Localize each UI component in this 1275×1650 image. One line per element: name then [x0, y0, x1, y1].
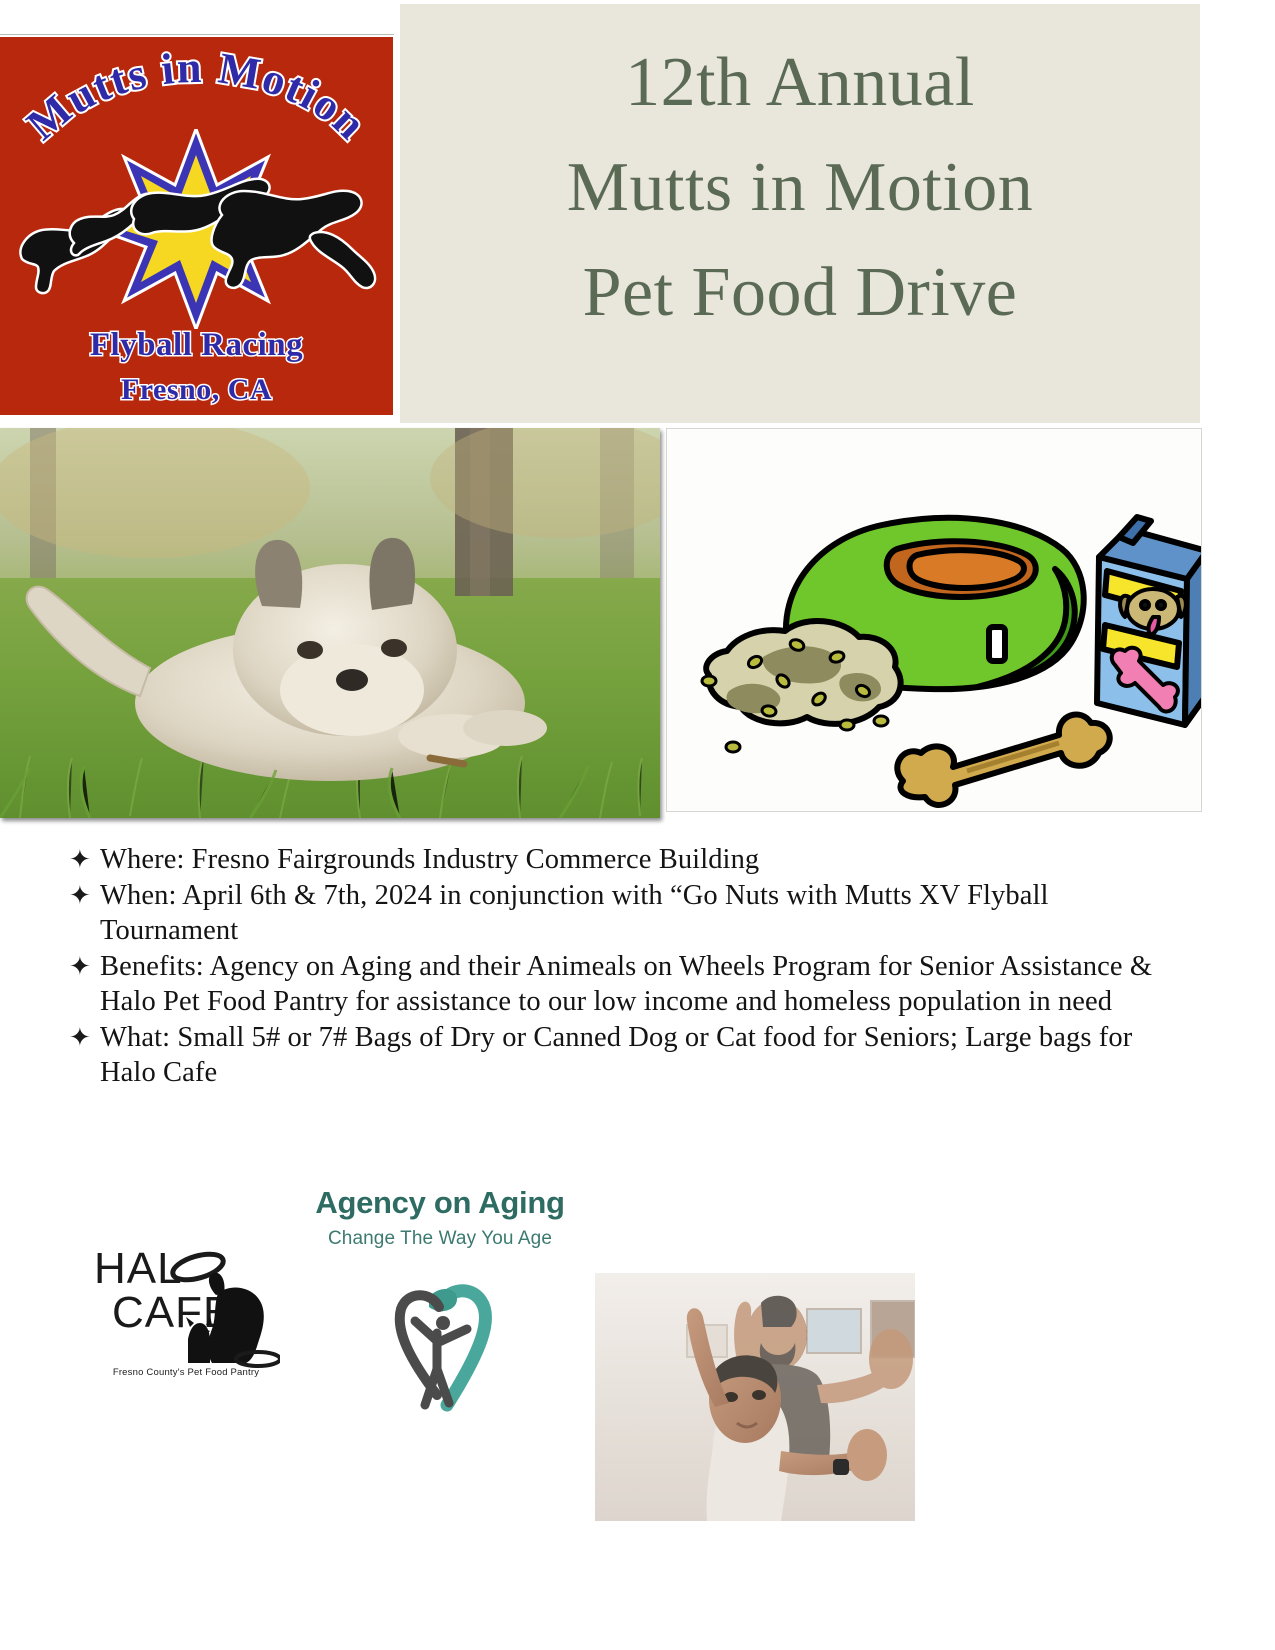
photo-row — [0, 428, 1202, 820]
halo-cafe-tagline: Fresno County's Pet Food Pantry — [86, 1367, 286, 1378]
logo-fresno-ca-text: Fresno, CA — [0, 373, 393, 407]
list-item: ✦ What: Small 5# or 7# Bags of Dry or Ca… — [62, 1020, 1172, 1090]
bullet-benefits-text: Benefits: Agency on Aging and their Anim… — [100, 949, 1172, 1019]
dog-silhouettes-icon — [14, 167, 379, 307]
agency-on-aging-heart-icon — [385, 1277, 495, 1422]
event-details-list: ✦ Where: Fresno Fairgrounds Industry Com… — [62, 842, 1172, 1091]
bullet-where-text: Where: Fresno Fairgrounds Industry Comme… — [100, 842, 1172, 877]
bullet-when-text: When: April 6th & 7th, 2024 in conjuncti… — [100, 878, 1172, 948]
bullet-marker-icon: ✦ — [62, 949, 100, 984]
list-item: ✦ Benefits: Agency on Aging and their An… — [62, 949, 1172, 1019]
bullet-marker-icon: ✦ — [62, 878, 100, 913]
title-line-2: Mutts in Motion — [567, 135, 1033, 240]
list-item: ✦ When: April 6th & 7th, 2024 in conjunc… — [62, 878, 1172, 948]
header-band: Mutts in Motion Flyball — [0, 0, 1275, 430]
pet-food-clipart — [666, 428, 1202, 812]
bullet-marker-icon: ✦ — [62, 1020, 100, 1055]
bullet-what-text: What: Small 5# or 7# Bags of Dry or Cann… — [100, 1020, 1172, 1090]
logo-flyball-racing-text: Flyball Racing — [0, 327, 393, 364]
yoga-seniors-photo — [595, 1273, 915, 1521]
title-panel: 12th Annual Mutts in Motion Pet Food Dri… — [400, 4, 1200, 423]
title-line-1: 12th Annual — [625, 30, 975, 135]
title-line-3: Pet Food Drive — [583, 240, 1018, 345]
mutts-in-motion-logo: Mutts in Motion Flyball — [0, 37, 393, 415]
bullet-marker-icon: ✦ — [62, 842, 100, 877]
halo-word: HAL — [94, 1244, 183, 1293]
halo-cafe-logo: HAL CAFE — [90, 1235, 280, 1375]
list-item: ✦ Where: Fresno Fairgrounds Industry Com… — [62, 842, 1172, 877]
dog-in-grass-photo — [0, 428, 660, 818]
agency-on-aging-name: Agency on Aging — [290, 1185, 590, 1221]
agency-on-aging-tagline: Change The Way You Age — [290, 1228, 590, 1250]
